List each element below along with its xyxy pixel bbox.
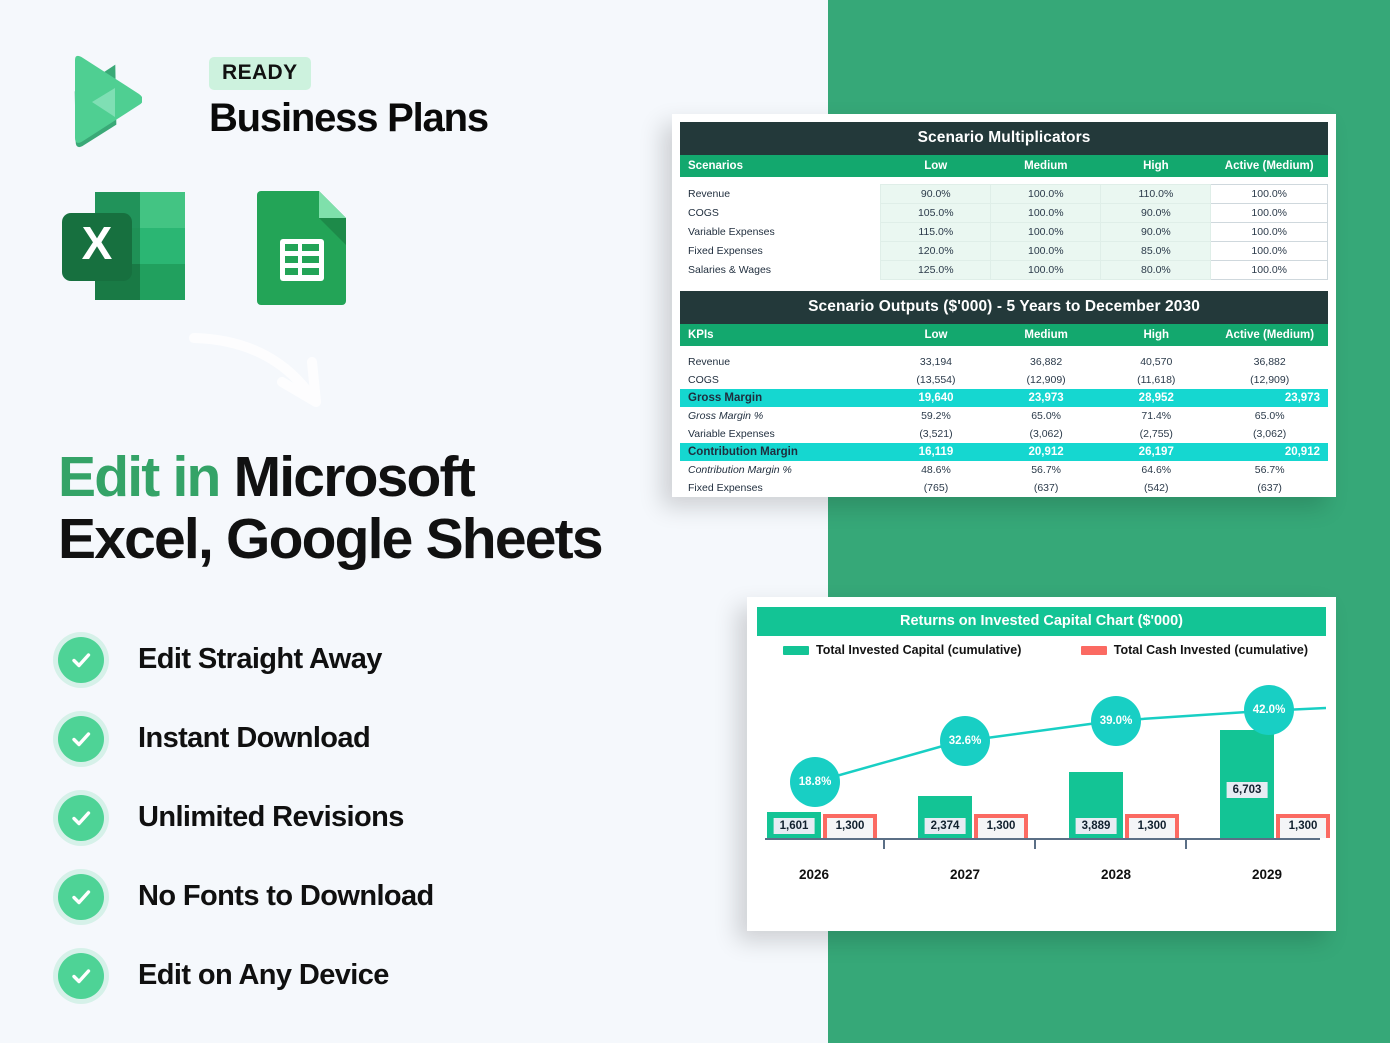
cell-active[interactable]: 100.0% [1211,222,1328,241]
table-row: Revenue 33,194 36,882 40,570 36,882 [680,353,1328,371]
col-header-low: Low [881,155,991,177]
cell-low: 48.6% [881,461,991,479]
table-row: Gross Margin % 59.2% 65.0% 71.4% 65.0% [680,407,1328,425]
row-label: COGS [680,371,881,389]
col-header-high: High [1101,324,1211,346]
cell-high: (11,618) [1101,371,1211,389]
cell-low: 19,640 [881,389,991,407]
row-label: Gross Margin % [680,407,881,425]
spreadsheet-preview-card: Scenario Multiplicators Scenarios Low Me… [672,114,1336,497]
cell-low: (3,521) [881,425,991,443]
scenario-outputs-table: KPIs Low Medium High Active (Medium) Rev… [680,324,1328,497]
list-item: Instant Download [58,699,678,778]
cell-medium: 100.0% [991,222,1101,241]
check-circle-icon [58,716,104,762]
ready-badge: READY [209,57,311,90]
roic-bubble-2026: 18.8% [790,757,840,807]
check-circle-icon [58,637,104,683]
page-title: Edit in Microsoft Excel, Google Sheets [58,447,738,570]
cell-high: 40,570 [1101,353,1211,371]
col-header-scenarios: Scenarios [680,155,881,177]
cell-medium: (3,062) [991,425,1101,443]
check-circle-icon [58,874,104,920]
cell-low: 120.0% [881,241,991,260]
cell-low: 125.0% [881,260,991,279]
cell-high: 71.4% [1101,407,1211,425]
col-header-medium: Medium [991,324,1101,346]
cell-low: 115.0% [881,222,991,241]
cell-high: 80.0% [1101,260,1211,279]
table-row: Revenue 90.0% 100.0% 110.0% 100.0% [680,184,1328,203]
check-circle-icon [58,953,104,999]
col-header-high: High [1101,155,1211,177]
cell-medium: 100.0% [991,260,1101,279]
row-label: COGS [680,203,881,222]
legend-item-cash-invested: Total Cash Invested (cumulative) [1081,643,1308,657]
cell-active[interactable]: 100.0% [1211,260,1328,279]
cell-high: 64.6% [1101,461,1211,479]
roic-bubble-2029: 42.0% [1244,685,1294,735]
cell-high: 85.0% [1101,241,1211,260]
list-item: Unlimited Revisions [58,778,678,857]
cell-medium: 36,882 [991,353,1101,371]
brand-title: Business Plans [209,96,488,141]
legend-item-invested-capital: Total Invested Capital (cumulative) [783,643,1021,657]
legend-label: Total Cash Invested (cumulative) [1114,643,1308,657]
cell-medium: 100.0% [991,241,1101,260]
cell-medium: 100.0% [991,203,1101,222]
cell-medium: (637) [991,479,1101,497]
feature-label: Edit on Any Device [138,959,389,992]
cell-high: 28,952 [1101,389,1211,407]
row-label: Fixed Expenses [680,479,881,497]
cell-high: 110.0% [1101,184,1211,203]
brand-logo: READY Business Plans [57,55,437,155]
list-item: Edit Straight Away [58,620,678,699]
col-header-low: Low [881,324,991,346]
feature-label: Unlimited Revisions [138,801,404,834]
cell-active: 23,973 [1211,389,1328,407]
multipliers-title: Scenario Multiplicators [680,122,1328,155]
table-row: COGS (13,554) (12,909) (11,618) (12,909) [680,371,1328,389]
table-row: Variable Expenses (3,521) (3,062) (2,755… [680,425,1328,443]
table-header-row: Scenarios Low Medium High Active (Medium… [680,155,1328,177]
row-label: Revenue [680,353,881,371]
row-label: Salaries & Wages [680,260,881,279]
table-header-row: KPIs Low Medium High Active (Medium) [680,324,1328,346]
play-triangle-logo-icon [57,55,142,150]
row-label: Variable Expenses [680,222,881,241]
cell-medium: 20,912 [991,443,1101,461]
cell-high: 90.0% [1101,203,1211,222]
curved-arrow-icon [186,330,366,422]
roic-trend-line [757,657,1326,892]
cell-high: (542) [1101,479,1211,497]
col-header-medium: Medium [991,155,1101,177]
cell-medium: 100.0% [991,184,1101,203]
scenario-multipliers-table: Scenarios Low Medium High Active (Medium… [680,155,1328,286]
chart-title: Returns on Invested Capital Chart ($'000… [757,607,1326,636]
list-item: No Fonts to Download [58,857,678,936]
cell-active: (3,062) [1211,425,1328,443]
chart-preview-card: Returns on Invested Capital Chart ($'000… [747,597,1336,931]
col-header-active: Active (Medium) [1211,155,1328,177]
brand-text: READY Business Plans [209,57,488,141]
legend-swatch-red [1081,646,1107,655]
table-row: COGS 105.0% 100.0% 90.0% 100.0% [680,203,1328,222]
row-label: Revenue [680,184,881,203]
cell-active[interactable]: 100.0% [1211,241,1328,260]
table-row: Fixed Expenses (765) (637) (542) (637) [680,479,1328,497]
row-label: Fixed Expenses [680,241,881,260]
page-root: READY Business Plans X [0,0,1390,1043]
row-label: Variable Expenses [680,425,881,443]
cell-active: 56.7% [1211,461,1328,479]
cell-active: 20,912 [1211,443,1328,461]
col-header-active: Active (Medium) [1211,324,1328,346]
chart-plot-area: 18.8% 32.6% 39.0% 42.0% 1,601 1,300 2,37… [757,657,1326,892]
col-header-kpis: KPIs [680,324,881,346]
roic-bubble-2027: 32.6% [940,716,990,766]
cell-low: (765) [881,479,991,497]
cell-medium: (12,909) [991,371,1101,389]
legend-label: Total Invested Capital (cumulative) [816,643,1021,657]
legend-swatch-green [783,646,809,655]
cell-active: (637) [1211,479,1328,497]
cell-active: (12,909) [1211,371,1328,389]
microsoft-excel-icon: X [57,187,190,305]
cell-high: (2,755) [1101,425,1211,443]
cell-low: (13,554) [881,371,991,389]
cell-low: 33,194 [881,353,991,371]
table-row: Contribution Margin % 48.6% 56.7% 64.6% … [680,461,1328,479]
feature-label: No Fonts to Download [138,880,434,913]
feature-list: Edit Straight Away Instant Download Unli… [58,620,678,1015]
list-item: Edit on Any Device [58,936,678,1015]
roic-bubble-2028: 39.0% [1091,696,1141,746]
headline-rest: Microsoft [234,445,474,509]
cell-high: 26,197 [1101,443,1211,461]
outputs-title: Scenario Outputs ($'000) - 5 Years to De… [680,291,1328,324]
cell-low: 105.0% [881,203,991,222]
table-row: Salaries & Wages 125.0% 100.0% 80.0% 100… [680,260,1328,279]
cell-high: 90.0% [1101,222,1211,241]
table-row-highlight: Contribution Margin 16,119 20,912 26,197… [680,443,1328,461]
headline-line2: Excel, Google Sheets [58,507,602,571]
chart-legend: Total Invested Capital (cumulative) Tota… [757,636,1326,657]
row-label: Contribution Margin [680,443,881,461]
cell-low: 59.2% [881,407,991,425]
table-row: Variable Expenses 115.0% 100.0% 90.0% 10… [680,222,1328,241]
cell-active: 65.0% [1211,407,1328,425]
cell-medium: 23,973 [991,389,1101,407]
cell-active[interactable]: 100.0% [1211,184,1328,203]
svg-text:X: X [82,217,113,269]
cell-low: 90.0% [881,184,991,203]
table-row-highlight: Gross Margin 19,640 23,973 28,952 23,973 [680,389,1328,407]
cell-low: 16,119 [881,443,991,461]
cell-active: 36,882 [1211,353,1328,371]
app-icons-group: X [57,187,349,305]
feature-label: Edit Straight Away [138,643,382,676]
feature-label: Instant Download [138,722,370,755]
table-row: Fixed Expenses 120.0% 100.0% 85.0% 100.0… [680,241,1328,260]
google-sheets-icon [254,187,349,305]
check-circle-icon [58,795,104,841]
cell-medium: 56.7% [991,461,1101,479]
row-label: Contribution Margin % [680,461,881,479]
cell-active[interactable]: 100.0% [1211,203,1328,222]
cell-medium: 65.0% [991,407,1101,425]
headline-accent: Edit in [58,445,234,509]
row-label: Gross Margin [680,389,881,407]
